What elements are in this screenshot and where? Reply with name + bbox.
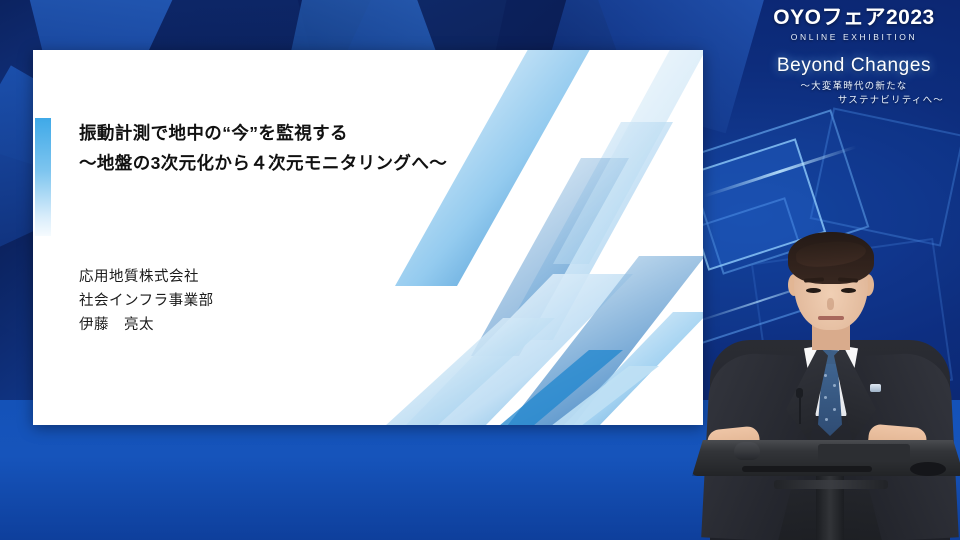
presenter-eye [806,288,821,293]
event-brand-header: OYOフェア2023 ONLINE EXHIBITION Beyond Chan… [756,6,952,108]
slide-title-line2: ～地盤の3次元化から４次元モニタリングへ～ [79,148,599,178]
podium-support-arm [774,480,888,489]
slide-decoration [33,50,703,425]
byline-department: 社会インフラ事業部 [79,289,214,313]
byline-company: 応用地質株式会社 [79,265,214,289]
byline-presenter: 伊藤 亮太 [79,313,214,337]
slide-title: 振動計測で地中の“今”を監視する ～地盤の3次元化から４次元モニタリングへ～ [79,118,599,178]
oyo-fair-logo: OYOフェア2023 [756,6,952,30]
theme-jp-line2: サステナビリティへ～ [756,94,952,108]
slide-title-line1: 振動計測で地中の“今”を監視する [79,118,599,148]
slide-byline: 応用地質株式会社 社会インフラ事業部 伊藤 亮太 [79,265,214,337]
beyond-changes-theme: Beyond Changes [756,52,952,80]
presentation-stage: 振動計測で地中の“今”を監視する ～地盤の3次元化から４次元モニタリングへ～ 応… [0,0,960,540]
slide-panel[interactable]: 振動計測で地中の“今”を監視する ～地盤の3次元化から４次元モニタリングへ～ 応… [33,50,703,425]
computer-mouse[interactable] [734,442,760,460]
podium-cup-holder [910,462,946,476]
company-pin-badge [870,384,881,392]
presenter-figure [700,228,960,540]
podium-slot [742,466,872,472]
online-exhibition-label: ONLINE EXHIBITION [756,30,952,44]
slide-accent-bar [35,118,51,236]
lapel-microphone-icon [796,388,803,398]
microphone-wire [799,398,801,424]
theme-jp-line1: ～大変革時代の新たな [756,80,952,94]
presenter-mouth [818,316,844,320]
presenter-eye [841,288,856,293]
podium-pad [818,444,910,462]
presenter-nose [827,298,834,310]
